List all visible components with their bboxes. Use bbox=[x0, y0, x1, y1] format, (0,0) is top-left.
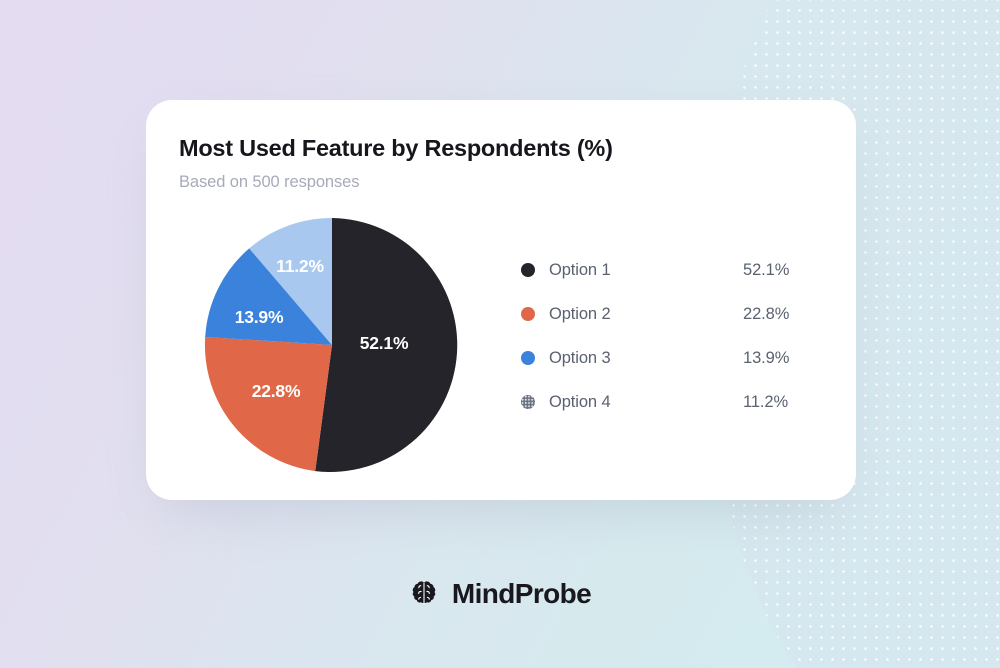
legend-value-option-3: 13.9% bbox=[743, 349, 821, 368]
chart-card: Most Used Feature by Respondents (%) Bas… bbox=[146, 100, 856, 500]
legend-swatch-icon-option-3 bbox=[521, 351, 535, 365]
pie-label-option-4: 11.2% bbox=[276, 256, 324, 276]
pie-slice-option-2[interactable] bbox=[205, 337, 332, 471]
pie-label-option-3: 13.9% bbox=[235, 307, 284, 327]
chart-plot-area: 52.1% 22.8% 13.9% 11.2% Option 1 52.1% O… bbox=[146, 218, 856, 500]
legend-label-option-1: Option 1 bbox=[549, 261, 743, 280]
legend-value-option-1: 52.1% bbox=[743, 261, 821, 280]
brand-name: MindProbe bbox=[452, 578, 591, 610]
legend-item-option-4[interactable]: Option 4 11.2% bbox=[521, 380, 821, 424]
chart-subtitle: Based on 500 responses bbox=[179, 173, 856, 192]
card-header: Most Used Feature by Respondents (%) Bas… bbox=[146, 100, 856, 192]
legend-swatch-icon-option-1 bbox=[521, 263, 535, 277]
legend-item-option-2[interactable]: Option 2 22.8% bbox=[521, 292, 821, 336]
legend-item-option-3[interactable]: Option 3 13.9% bbox=[521, 336, 821, 380]
screenshot-root: Most Used Feature by Respondents (%) Bas… bbox=[0, 0, 1000, 668]
legend-value-option-2: 22.8% bbox=[743, 305, 821, 324]
pie-chart-svg: 52.1% 22.8% 13.9% 11.2% bbox=[204, 217, 460, 473]
legend-swatch-icon-option-4 bbox=[521, 395, 535, 409]
chart-legend: Option 1 52.1% Option 2 22.8% Option 3 1… bbox=[521, 248, 821, 424]
pie-chart: 52.1% 22.8% 13.9% 11.2% bbox=[204, 217, 460, 473]
legend-value-option-4: 11.2% bbox=[743, 393, 821, 412]
legend-label-option-2: Option 2 bbox=[549, 305, 743, 324]
pie-label-option-2: 22.8% bbox=[252, 381, 301, 401]
legend-swatch-icon-option-2 bbox=[521, 307, 535, 321]
brain-icon bbox=[409, 579, 439, 609]
legend-label-option-4: Option 4 bbox=[549, 393, 743, 412]
brand-lockup: MindProbe bbox=[0, 578, 1000, 610]
legend-item-option-1[interactable]: Option 1 52.1% bbox=[521, 248, 821, 292]
pie-label-option-1: 52.1% bbox=[360, 333, 409, 353]
chart-title: Most Used Feature by Respondents (%) bbox=[179, 134, 856, 162]
legend-label-option-3: Option 3 bbox=[549, 349, 743, 368]
